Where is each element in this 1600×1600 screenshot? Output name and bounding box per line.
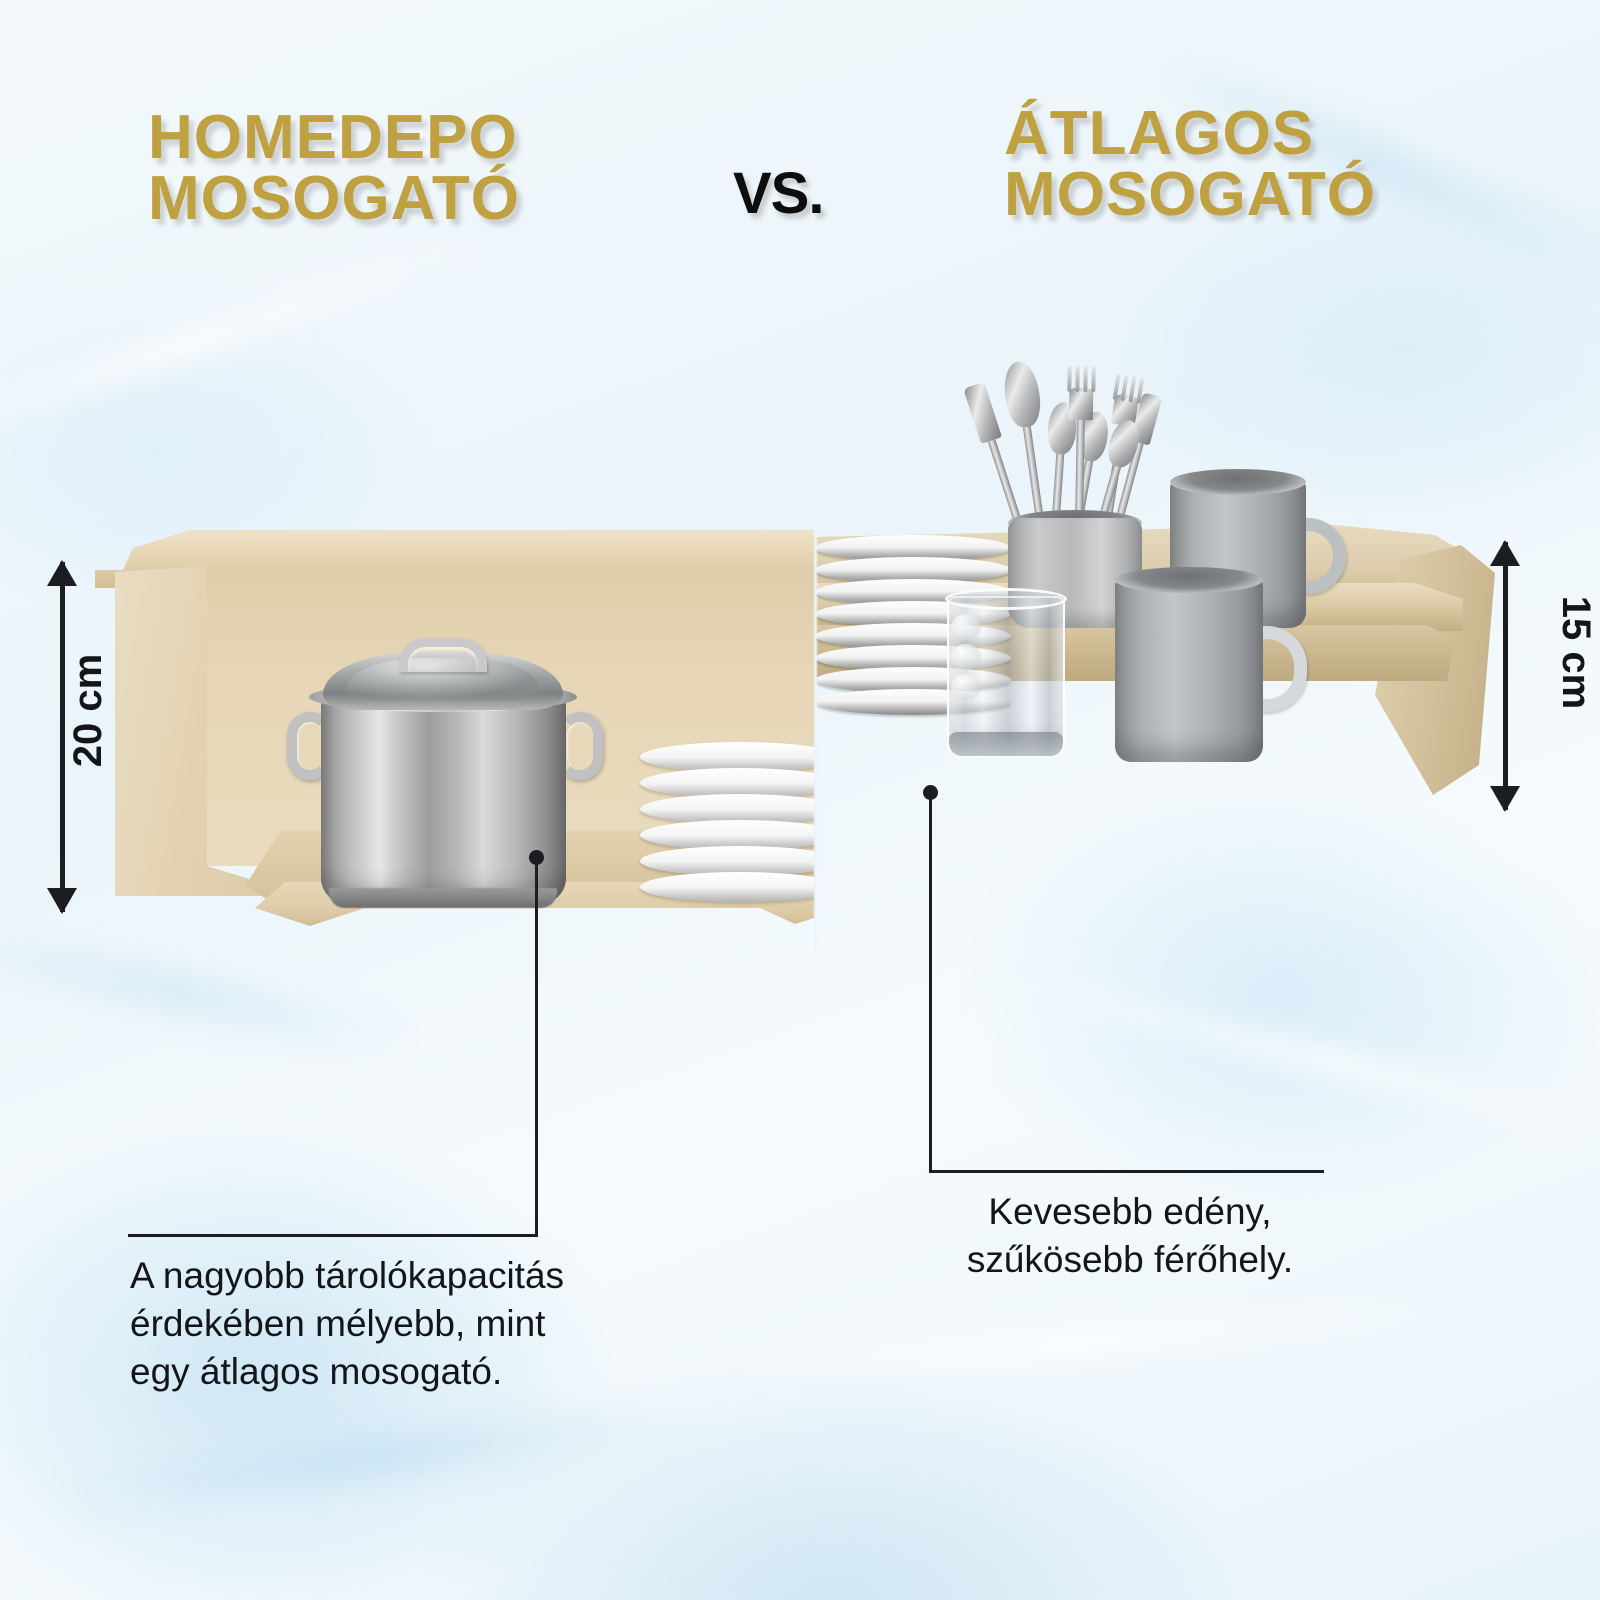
glass-dimple: [951, 644, 981, 670]
left-caption-text: A nagyobb tárolókapacitás érdekében mély…: [130, 1252, 650, 1396]
grey-mug-front: [1115, 578, 1263, 762]
mug-rim: [1115, 567, 1263, 593]
pot-body: [321, 696, 566, 904]
deep-sink-basin: [95, 530, 815, 930]
left-callout-leader-horizontal: [128, 1234, 538, 1237]
infographic-canvas: HOMEDEPO MOSOGATÓ VS. ÁTLAGOS MOSOGATÓ: [0, 0, 1600, 1600]
left-plate-stack: [640, 742, 815, 932]
dimension-line: [60, 562, 65, 912]
glass-dimple: [951, 614, 981, 640]
glass-base: [949, 732, 1063, 756]
versus-label: VS.: [733, 160, 824, 227]
mug-body: [1115, 578, 1263, 762]
left-sink-photo: [0, 430, 815, 990]
left-callout-leader-vertical: [535, 862, 538, 1235]
plate: [640, 872, 815, 902]
arrow-up-icon: [1490, 540, 1520, 566]
stainless-stock-pot: [295, 638, 595, 908]
marble-vein-5: [700, 1297, 1459, 1387]
pot-base: [329, 888, 557, 908]
arrow-down-icon: [47, 888, 77, 914]
right-callout-leader-horizontal: [929, 1170, 1324, 1173]
drinking-glass: [947, 596, 1065, 758]
right-product-title: ÁTLAGOS MOSOGATÓ: [1004, 104, 1376, 226]
left-depth-label: 20 cm: [66, 654, 111, 767]
marble-vein-3: [60, 1401, 699, 1513]
glass-dimple: [951, 674, 981, 700]
right-caption-text: Kevesebb edény, szűkösebb férőhely.: [905, 1188, 1355, 1284]
right-callout-leader-vertical: [929, 797, 932, 1172]
photo-split-seam: [813, 430, 818, 950]
mug-rim: [1170, 469, 1306, 495]
arrow-down-icon: [1490, 786, 1520, 812]
glass-rim: [945, 588, 1067, 610]
marble-vein-2: [988, 966, 1600, 1157]
right-depth-label: 15 cm: [1553, 596, 1598, 709]
marble-vein-1: [0, 235, 489, 451]
dimension-line: [1503, 542, 1508, 810]
right-sink-photo: [815, 360, 1600, 920]
pot-lid-handle: [399, 638, 487, 672]
left-product-title: HOMEDEPO MOSOGATÓ: [148, 108, 520, 230]
arrow-up-icon: [47, 560, 77, 586]
